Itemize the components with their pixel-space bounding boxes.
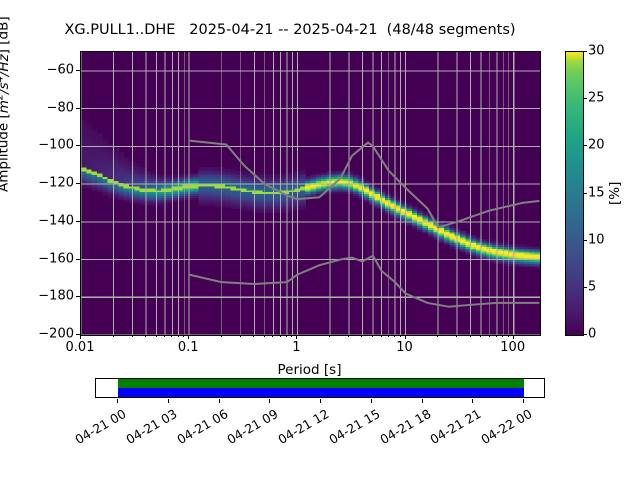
y-tick-label: −120 [0, 176, 74, 191]
x-tick-mark-minor [496, 335, 497, 337]
x-tick-mark-minor [221, 335, 222, 337]
x-tick-mark-minor [361, 335, 362, 337]
x-tick-label: 100 [500, 340, 525, 355]
timeline-tick-mark [168, 399, 169, 403]
colorbar-tick-mark [583, 240, 587, 241]
x-tick-mark-minor [400, 335, 401, 337]
y-tick-mark [76, 183, 80, 184]
timeline-tick-mark [472, 399, 473, 403]
colorbar-tick-label: 0 [588, 327, 596, 342]
x-tick-label: 1 [292, 340, 300, 355]
y-tick-mark [76, 296, 80, 297]
x-tick-mark-minor [145, 335, 146, 337]
y-tick-label: −180 [0, 289, 74, 304]
low-noise-model-line [189, 256, 538, 307]
y-tick-mark [76, 108, 80, 109]
x-tick-mark-minor [264, 335, 265, 337]
y-tick-label: −160 [0, 251, 74, 266]
x-tick-mark-minor [240, 335, 241, 337]
x-tick-mark-minor [132, 335, 133, 337]
timeline-tick-mark [320, 399, 321, 403]
x-tick-mark-minor [272, 335, 273, 337]
timeline-coverage-bar [118, 388, 524, 397]
y-axis-label-suffix: ] [dB] [0, 16, 12, 54]
x-tick-mark [296, 335, 297, 339]
x-tick-mark-minor [348, 335, 349, 337]
x-tick-mark-minor [456, 335, 457, 337]
timeline-tick-mark [422, 399, 423, 403]
colorbar-tick-label: 25 [588, 91, 605, 106]
x-tick-mark-minor [291, 335, 292, 337]
colorbar[interactable] [565, 51, 584, 336]
timeline-tick-mark [117, 399, 118, 403]
x-tick-mark-minor [381, 335, 382, 337]
x-tick-mark-minor [388, 335, 389, 337]
x-tick-mark-minor [183, 335, 184, 337]
x-tick-mark-minor [164, 335, 165, 337]
timeline-tick-mark [371, 399, 372, 403]
heatmap-cells [81, 120, 540, 270]
x-tick-mark-minor [489, 335, 490, 337]
x-tick-mark-minor [508, 335, 509, 337]
y-tick-mark [76, 221, 80, 222]
y-tick-mark [76, 259, 80, 260]
x-tick-label: 0.01 [66, 340, 95, 355]
colorbar-tick-mark [583, 51, 587, 52]
x-tick-mark-minor [280, 335, 281, 337]
x-tick-mark [80, 335, 81, 339]
x-tick-mark-minor [171, 335, 172, 337]
x-tick-mark [405, 335, 406, 339]
colorbar-tick-mark [583, 193, 587, 194]
x-tick-label: 10 [396, 340, 413, 355]
colorbar-tick-label: 15 [588, 185, 605, 200]
y-tick-label: −200 [0, 327, 74, 342]
ppsd-heatmap-axes[interactable] [80, 51, 541, 336]
coverage-timeline[interactable] [95, 378, 545, 398]
y-tick-mark [76, 70, 80, 71]
timeline-tick-mark [523, 399, 524, 403]
colorbar-tick-label: 30 [588, 44, 605, 59]
colorbar-tick-label: 10 [588, 232, 605, 247]
ppsd-plot-canvas [81, 52, 540, 335]
timeline-tick-mark [219, 399, 220, 403]
colorbar-label: [%] [607, 182, 623, 205]
x-tick-mark [188, 335, 189, 339]
figure-title: XG.PULL1..DHE 2025-04-21 -- 2025-04-21 (… [0, 22, 580, 38]
y-tick-label: −100 [0, 138, 74, 153]
x-axis-label: Period [s] [80, 362, 539, 378]
x-tick-mark-minor [286, 335, 287, 337]
x-tick-mark [513, 335, 514, 339]
x-tick-label: 0.1 [178, 340, 199, 355]
x-tick-mark-minor [372, 335, 373, 337]
timeline-tick-mark [269, 399, 270, 403]
ppsd-figure: XG.PULL1..DHE 2025-04-21 -- 2025-04-21 (… [0, 0, 640, 480]
y-tick-mark [76, 145, 80, 146]
colorbar-tick-label: 20 [588, 138, 605, 153]
x-tick-mark-minor [502, 335, 503, 337]
y-tick-label: −140 [0, 213, 74, 228]
x-tick-mark-minor [437, 335, 438, 337]
colorbar-tick-mark [583, 287, 587, 288]
timeline-data-bar [118, 379, 524, 388]
x-tick-mark-minor [178, 335, 179, 337]
x-tick-mark-minor [480, 335, 481, 337]
x-tick-mark-minor [394, 335, 395, 337]
x-tick-mark-minor [113, 335, 114, 337]
x-tick-mark-minor [253, 335, 254, 337]
colorbar-tick-mark [583, 98, 587, 99]
y-tick-label: −60 [0, 62, 74, 77]
colorbar-tick-mark [583, 145, 587, 146]
x-tick-mark-minor [329, 335, 330, 337]
x-tick-mark-minor [156, 335, 157, 337]
y-tick-label: −80 [0, 100, 74, 115]
colorbar-tick-mark [583, 334, 587, 335]
x-tick-mark-minor [470, 335, 471, 337]
colorbar-tick-label: 5 [588, 279, 596, 294]
